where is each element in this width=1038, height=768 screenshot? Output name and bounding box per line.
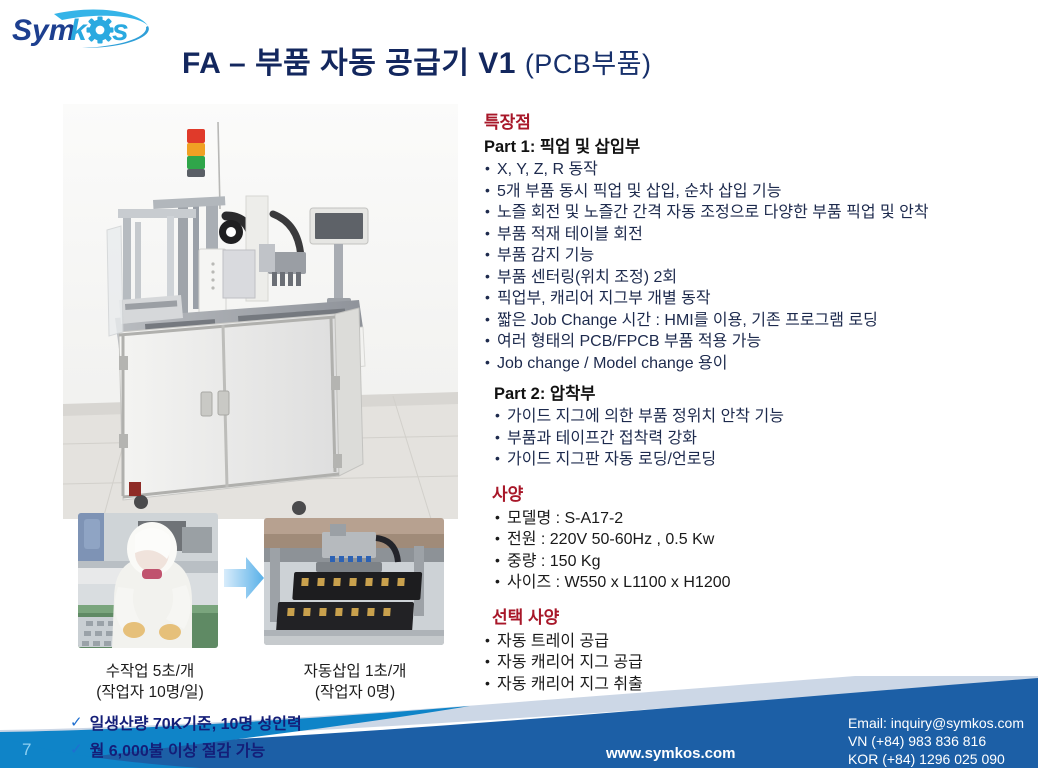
check-icon: ✓ bbox=[70, 713, 83, 731]
website-url[interactable]: www.symkos.com bbox=[606, 745, 736, 762]
manual-work-photo bbox=[78, 513, 218, 648]
page-title-sub: (PCB부품) bbox=[525, 49, 652, 79]
features-heading: 특장점 bbox=[484, 112, 1036, 134]
contact-phone-vn: VN (+84) 983 836 816 bbox=[848, 732, 1024, 750]
tower-light bbox=[187, 129, 205, 177]
benefit-item: ✓ 월 6,000불 이상 절감 가능 bbox=[70, 737, 302, 761]
part2-list: 가이드 지그에 의한 부품 정위치 안착 기능 부품과 테이프간 접착력 강화 … bbox=[484, 406, 1036, 471]
list-item: X, Y, Z, R 동작 bbox=[484, 159, 1036, 181]
gear-icon bbox=[87, 17, 114, 44]
part2-heading: Part 2: 압착부 bbox=[484, 383, 1036, 405]
benefit-item: ✓ 일생산량 70K기준, 10명 성인력 bbox=[70, 710, 302, 734]
benefit-text: 월 6,000불 이상 절감 가능 bbox=[90, 737, 266, 761]
page-title: FA – 부품 자동 공급기 V1 (PCB부품) bbox=[182, 38, 652, 82]
machine-photo bbox=[63, 104, 458, 519]
contact-info: Email: inquiry@symkos.com VN (+84) 983 8… bbox=[848, 714, 1024, 768]
list-item: 5개 부품 동시 픽업 및 삽입, 순차 삽입 기능 bbox=[484, 181, 1036, 203]
automatic-insertion-photo bbox=[264, 518, 444, 645]
list-item: 짧은 Job Change 시간 : HMI를 이용, 기존 프로그램 로딩 bbox=[484, 310, 1036, 332]
specs-heading: 사양 bbox=[484, 484, 1036, 506]
logo-s-text: s bbox=[112, 14, 129, 47]
contact-phone-kor: KOR (+84) 1296 025 090 bbox=[848, 750, 1024, 768]
list-item: 부품 적재 테이블 회전 bbox=[484, 224, 1036, 246]
page-title-main: FA – 부품 자동 공급기 V1 bbox=[182, 47, 525, 80]
spacer bbox=[484, 471, 1036, 484]
page-number: 7 bbox=[22, 740, 31, 760]
logo-kos-text: k bbox=[70, 14, 88, 47]
list-item: 픽업부, 캐리어 지그부 개별 동작 bbox=[484, 288, 1036, 310]
list-item: 중량 : 150 Kg bbox=[494, 551, 1036, 573]
list-item: 부품과 테이프간 접착력 강화 bbox=[494, 428, 1036, 450]
list-item: 자동 트레이 공급 bbox=[484, 631, 1036, 653]
list-item: 부품 감지 기능 bbox=[484, 245, 1036, 267]
logo-sym-text: Sym bbox=[12, 14, 75, 47]
list-item: Job change / Model change 용이 bbox=[484, 353, 1036, 375]
benefit-text: 일생산량 70K기준, 10명 성인력 bbox=[90, 710, 302, 734]
content-column: 특장점 Part 1: 픽업 및 삽입부 X, Y, Z, R 동작 5개 부품… bbox=[484, 112, 1036, 695]
slide: Sym k s FA – 부품 자동 공급기 V1 (PCB부 bbox=[0, 0, 1038, 768]
list-item: 사이즈 : W550 x L1100 x H1200 bbox=[494, 572, 1036, 594]
list-item: 여러 형태의 PCB/FPCB 부품 적용 가능 bbox=[484, 331, 1036, 353]
list-item: 전원 : 220V 50-60Hz , 0.5 Kw bbox=[494, 529, 1036, 551]
check-icon: ✓ bbox=[70, 740, 83, 758]
contact-email[interactable]: Email: inquiry@symkos.com bbox=[848, 714, 1024, 732]
part1-heading: Part 1: 픽업 및 삽입부 bbox=[484, 136, 1036, 158]
spacer bbox=[484, 374, 1036, 383]
benefits-list: ✓ 일생산량 70K기준, 10명 성인력 ✓ 월 6,000불 이상 절감 가… bbox=[70, 710, 302, 764]
part1-list: X, Y, Z, R 동작 5개 부품 동시 픽업 및 삽입, 순차 삽입 기능… bbox=[484, 159, 1036, 374]
list-item: 가이드 지그에 의한 부품 정위치 안착 기능 bbox=[494, 406, 1036, 428]
symkos-logo: Sym k s bbox=[8, 6, 168, 54]
list-item: 모델명 : S-A17-2 bbox=[494, 508, 1036, 530]
specs-list: 모델명 : S-A17-2 전원 : 220V 50-60Hz , 0.5 Kw… bbox=[484, 508, 1036, 594]
list-item: 자동 캐리어 지그 공급 bbox=[484, 652, 1036, 674]
options-heading: 선택 사양 bbox=[484, 607, 1036, 629]
right-arrow-icon bbox=[222, 553, 266, 603]
list-item: 부품 센터링(위치 조정) 2회 bbox=[484, 267, 1036, 289]
list-item: 노즐 회전 및 노즐간 간격 자동 조정으로 다양한 부품 픽업 및 안착 bbox=[484, 202, 1036, 224]
list-item: 가이드 지그판 자동 로딩/언로딩 bbox=[494, 449, 1036, 471]
spacer bbox=[484, 594, 1036, 607]
